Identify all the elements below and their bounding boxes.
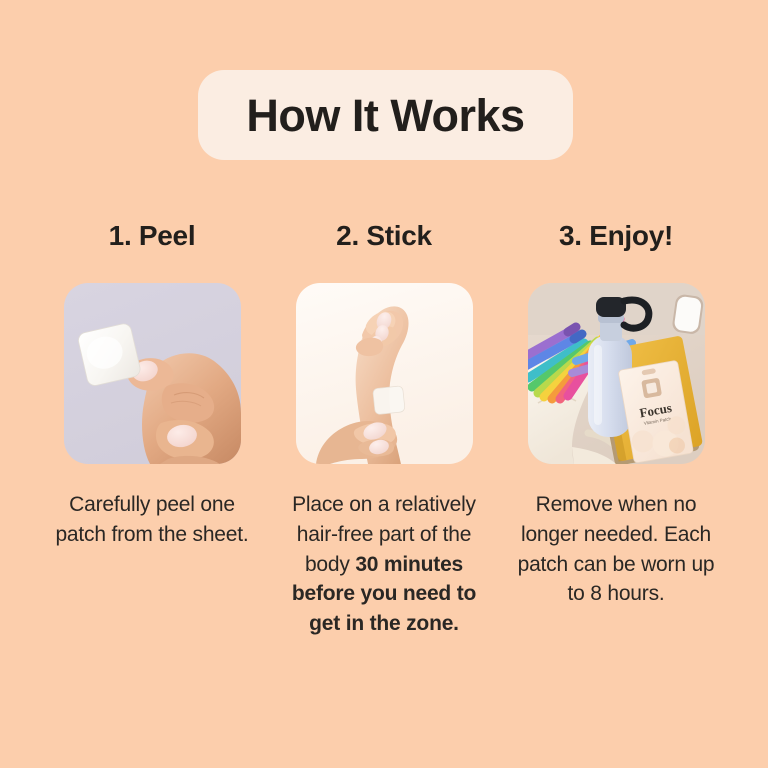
peel-patch-photo	[64, 283, 241, 464]
step-2-title: 2. Stick	[336, 210, 432, 262]
step-1-title: 1. Peel	[109, 210, 196, 262]
step-3-title: 3. Enjoy!	[559, 210, 673, 262]
page-title: How It Works	[246, 93, 524, 138]
step-1-caption: Carefully peel one patch from the sheet.	[47, 490, 257, 550]
enjoy-flatlay-photo: Focus Vitamin Patch	[528, 283, 705, 464]
step-3-caption-plain: Remove when no longer needed. Each patch…	[518, 493, 715, 605]
step-3-enjoy: 3. Enjoy!	[500, 210, 732, 639]
step-2-caption: Place on a relatively hair-free part of …	[279, 490, 489, 639]
step-1-peel: 1. Peel	[36, 210, 268, 639]
step-3-caption: Remove when no longer needed. Each patch…	[511, 490, 721, 609]
steps-row: 1. Peel	[0, 210, 768, 639]
page-title-pill: How It Works	[198, 70, 573, 160]
step-2-stick: 2. Stick	[268, 210, 500, 639]
step-1-caption-plain: Carefully peel one patch from the sheet.	[55, 493, 248, 546]
stick-patch-photo	[296, 283, 473, 464]
